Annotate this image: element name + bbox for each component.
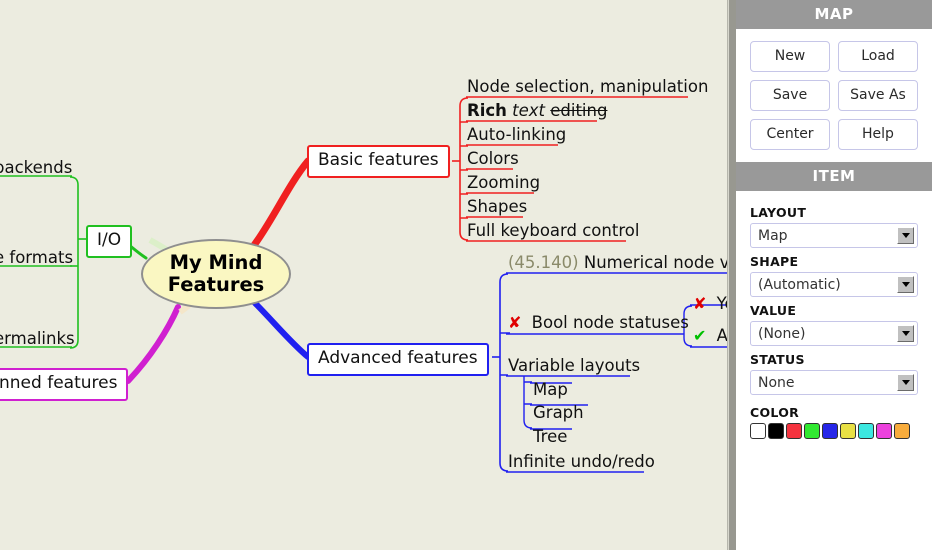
color-swatch-row <box>750 423 918 439</box>
value-field-label: VALUE <box>750 303 918 318</box>
node-basic-features[interactable]: Basic features <box>307 145 450 178</box>
numerical-value: (45.140) <box>508 253 579 272</box>
side-panel: MAP New Load Save Save As Center Help IT… <box>736 0 932 550</box>
root-node-line1: My Mind <box>168 252 265 274</box>
value-select[interactable]: (None) <box>750 321 918 346</box>
color-swatch-cyan[interactable] <box>858 423 874 439</box>
color-swatch-orange[interactable] <box>894 423 910 439</box>
new-button[interactable]: New <box>750 41 830 72</box>
status-field-label: STATUS <box>750 352 918 367</box>
save-as-button[interactable]: Save As <box>838 80 918 111</box>
node-io-formats-clipped[interactable]: e formats <box>0 247 76 270</box>
color-swatch-yellow[interactable] <box>840 423 856 439</box>
node-colors[interactable]: Colors <box>464 148 522 171</box>
scrollbar-thumb[interactable] <box>729 0 736 550</box>
item-fields: LAYOUT Map SHAPE (Automatic) VALUE (None… <box>736 191 932 439</box>
color-swatch-blue[interactable] <box>822 423 838 439</box>
node-rich-text-editing[interactable]: Rich text editing <box>464 100 610 123</box>
value-select-value: (None) <box>758 326 805 342</box>
shape-select-value: (Automatic) <box>758 277 841 293</box>
node-io[interactable]: I/O <box>86 225 132 258</box>
node-full-keyboard-control[interactable]: Full keyboard control <box>464 220 642 243</box>
node-infinite-undo-redo[interactable]: Infinite undo/redo <box>505 451 658 474</box>
rich-strike-part: editing <box>550 101 607 120</box>
rich-italic-part: text <box>512 101 545 120</box>
color-swatch-black[interactable] <box>768 423 784 439</box>
shape-field-label: SHAPE <box>750 254 918 269</box>
color-swatch-green[interactable] <box>804 423 820 439</box>
node-bool-node-statuses[interactable]: ✘ Bool node statuses <box>505 312 692 335</box>
node-auto-linking[interactable]: Auto-linking <box>464 124 569 147</box>
layout-select[interactable]: Map <box>750 223 918 248</box>
status-select-value: None <box>758 375 795 391</box>
status-select[interactable]: None <box>750 370 918 395</box>
center-button[interactable]: Center <box>750 119 830 150</box>
shape-select[interactable]: (Automatic) <box>750 272 918 297</box>
node-io-permalinks-clipped[interactable]: ermalinks <box>0 328 78 351</box>
status-no-icon: ✘ <box>508 313 521 332</box>
rich-bold-part: Rich <box>467 101 507 120</box>
map-button-grid: New Load Save Save As Center Help <box>736 29 932 162</box>
chevron-down-icon[interactable] <box>897 325 914 342</box>
item-section-header: ITEM <box>736 162 932 191</box>
save-button[interactable]: Save <box>750 80 830 111</box>
color-field-label: COLOR <box>750 405 918 420</box>
node-layout-map[interactable]: Map <box>530 379 571 402</box>
map-section-header: MAP <box>736 0 932 29</box>
color-swatch-white[interactable] <box>750 423 766 439</box>
load-button[interactable]: Load <box>838 41 918 72</box>
root-node[interactable]: My Mind Features <box>141 239 291 309</box>
chevron-down-icon[interactable] <box>897 276 914 293</box>
mindmap-app: My Mind Features Basic features Advanced… <box>0 0 932 550</box>
node-io-backends-clipped[interactable]: backends <box>0 157 75 180</box>
node-node-selection[interactable]: Node selection, manipulation <box>464 76 711 99</box>
node-layout-graph[interactable]: Graph <box>530 402 587 425</box>
color-swatch-red[interactable] <box>786 423 802 439</box>
root-node-line2: Features <box>168 274 265 296</box>
node-zooming[interactable]: Zooming <box>464 172 543 195</box>
node-variable-layouts[interactable]: Variable layouts <box>505 355 643 378</box>
chevron-down-icon[interactable] <box>897 227 914 244</box>
node-layout-tree[interactable]: Tree <box>530 426 570 449</box>
color-swatch-magenta[interactable] <box>876 423 892 439</box>
node-shapes[interactable]: Shapes <box>464 196 530 219</box>
node-planned-features[interactable]: nned features <box>0 368 128 401</box>
status-yes-icon: ✔ <box>693 326 706 345</box>
node-advanced-features[interactable]: Advanced features <box>307 343 489 376</box>
canvas-vertical-scrollbar[interactable] <box>727 0 736 550</box>
layout-field-label: LAYOUT <box>750 205 918 220</box>
help-button[interactable]: Help <box>838 119 918 150</box>
layout-select-value: Map <box>758 228 788 244</box>
chevron-down-icon[interactable] <box>897 374 914 391</box>
status-no-icon: ✘ <box>693 294 706 313</box>
